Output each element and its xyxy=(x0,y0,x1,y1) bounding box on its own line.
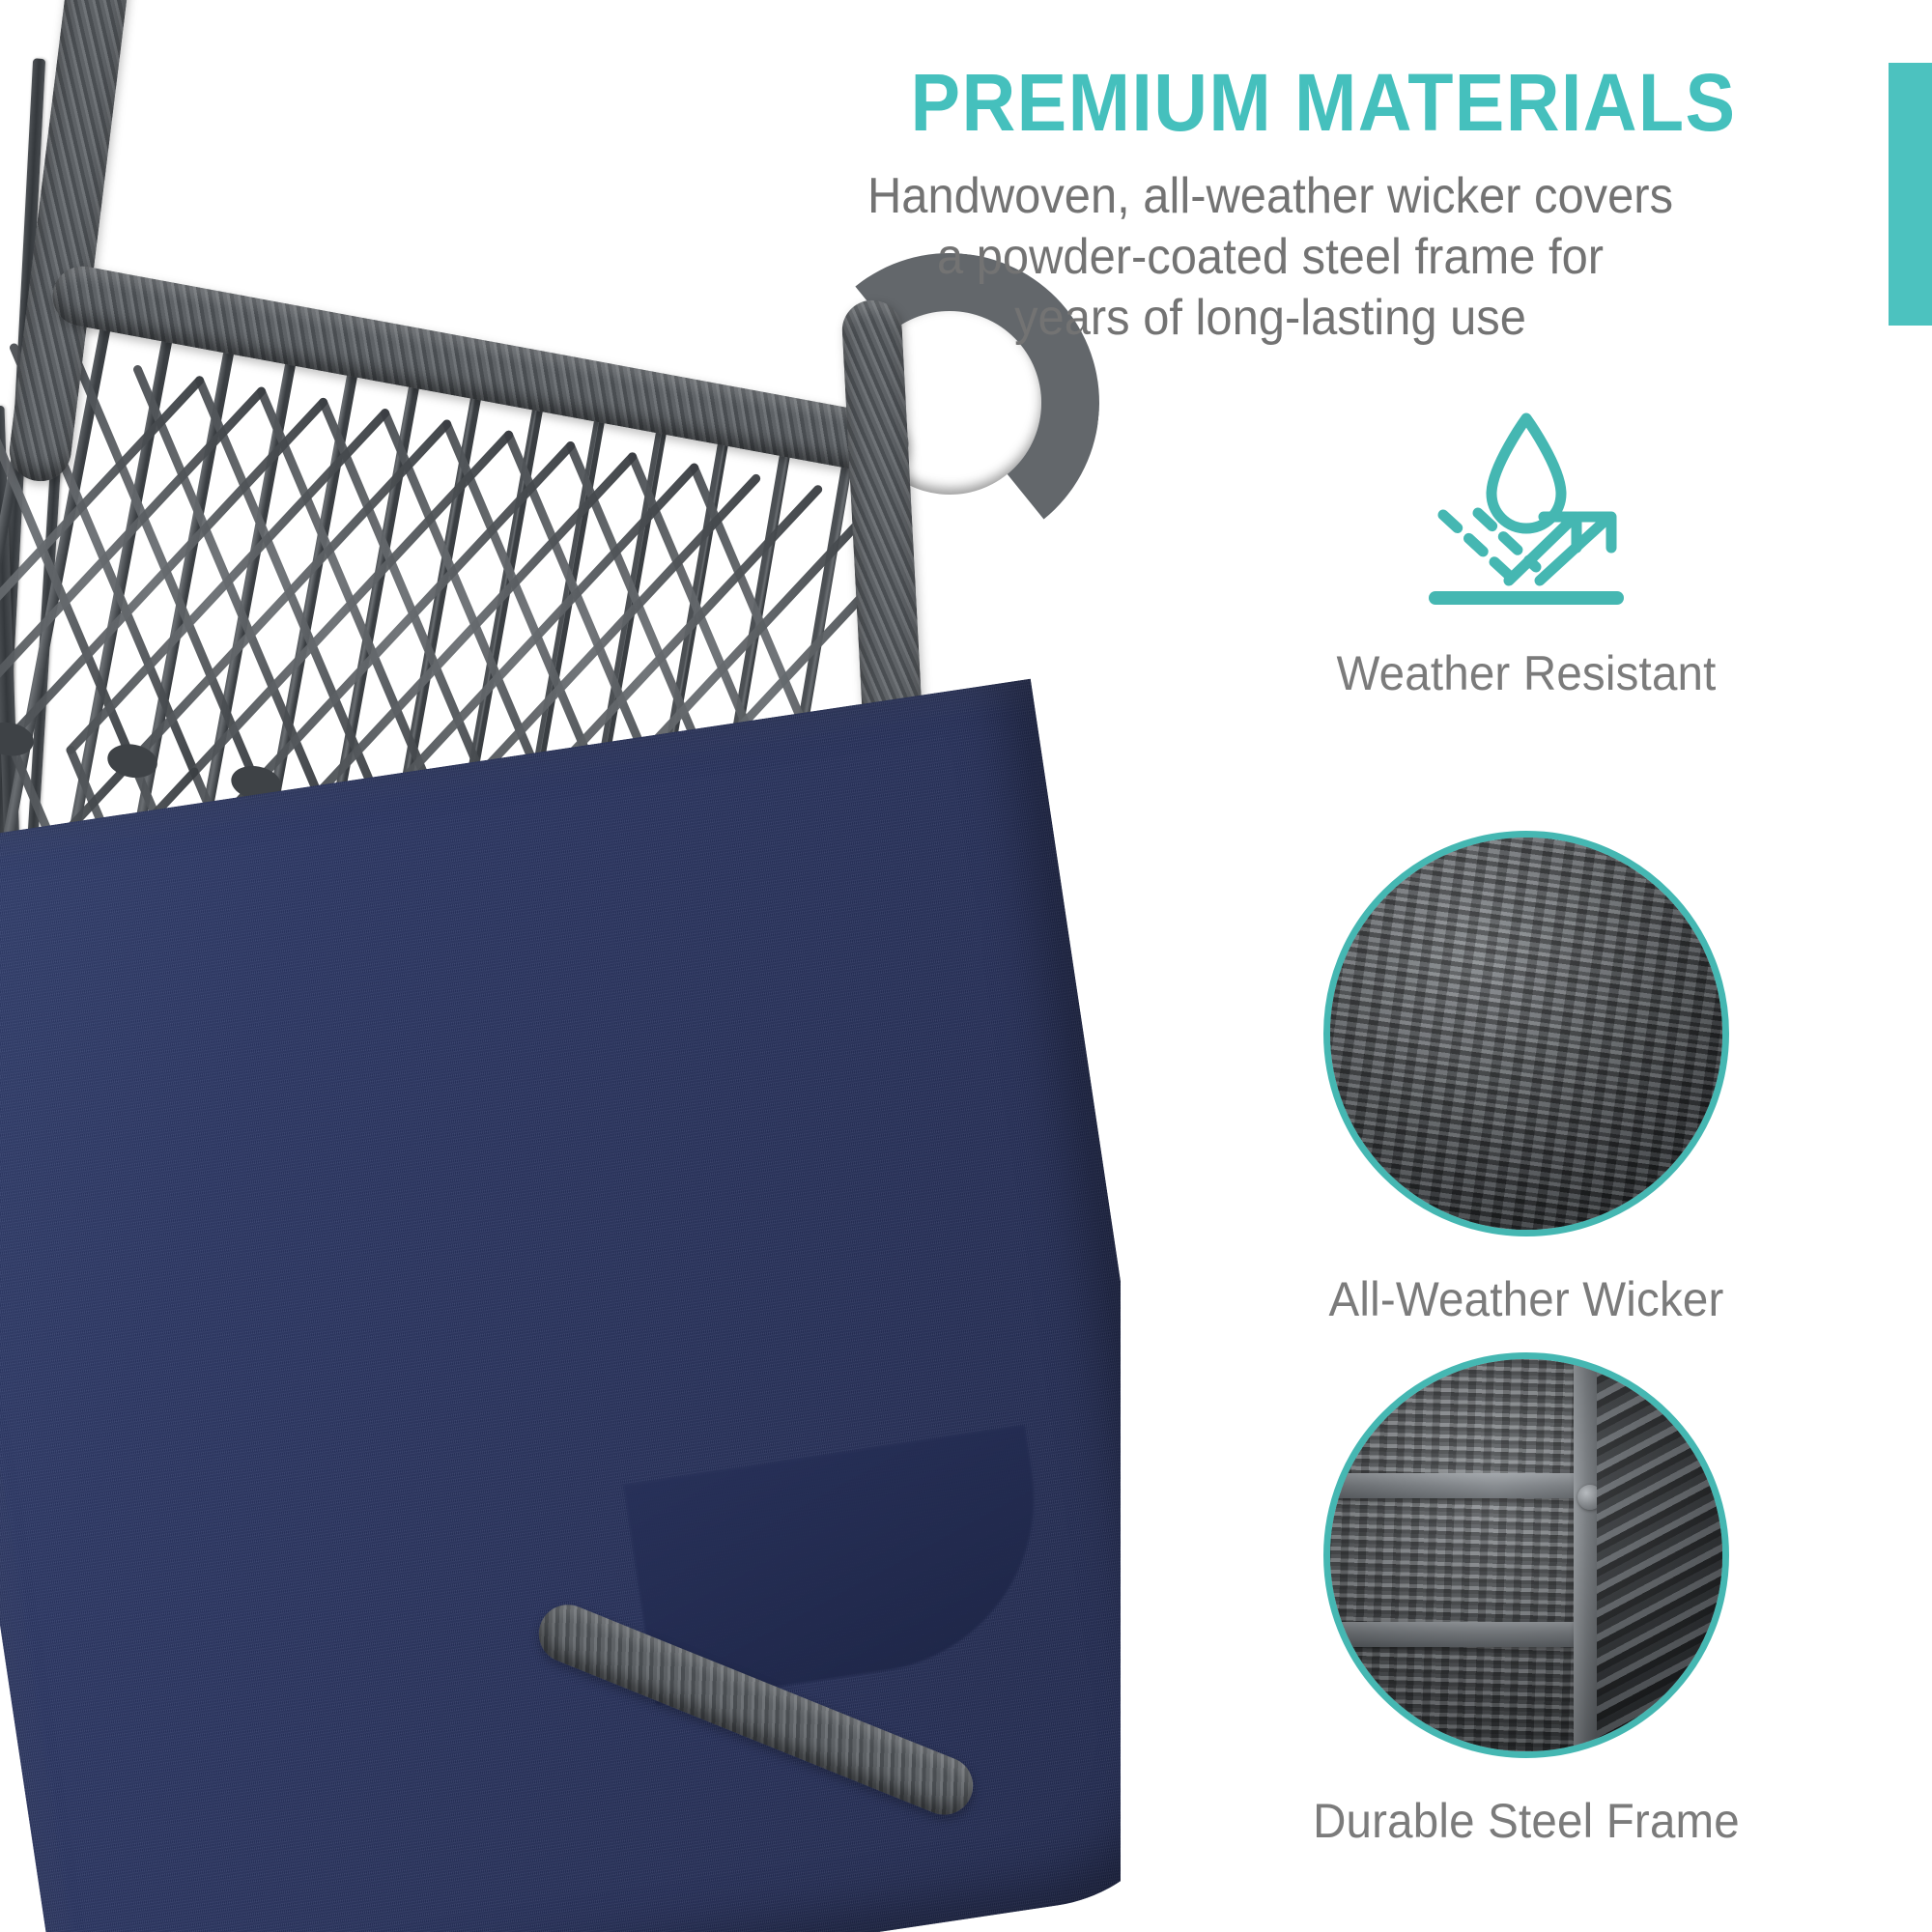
feature-label-durable-steel-frame: Durable Steel Frame xyxy=(1141,1793,1912,1849)
frame-shading xyxy=(1330,1359,1722,1751)
product-feature-graphic: PREMIUM MATERIALS Handwoven, all-weather… xyxy=(0,0,1932,1932)
feature-weather-resistant: Weather Resistant xyxy=(1121,386,1932,701)
water-droplet-repel-icon xyxy=(1401,401,1652,613)
subtitle-line-3: years of long-lasting use xyxy=(712,288,1829,349)
subtitle: Handwoven, all-weather wicker covers a p… xyxy=(712,166,1829,349)
steel-frame-closeup xyxy=(1323,1352,1729,1758)
seat-cushion xyxy=(0,679,1121,1932)
subtitle-line-1: Handwoven, all-weather wicker covers xyxy=(712,166,1829,227)
feature-label-all-weather-wicker: All-Weather Wicker xyxy=(1141,1271,1912,1327)
wicker-weave-closeup xyxy=(1323,831,1729,1236)
feature-label-weather-resistant: Weather Resistant xyxy=(1141,645,1912,701)
subtitle-line-2: a powder-coated steel frame for xyxy=(712,227,1829,288)
weather-resistant-icon-wrap xyxy=(1121,386,1932,628)
wicker-texture xyxy=(1330,838,1722,1230)
feature-all-weather-wicker: All-Weather Wicker xyxy=(1121,831,1932,1327)
accent-bar xyxy=(1889,63,1932,326)
info-panel: PREMIUM MATERIALS Handwoven, all-weather… xyxy=(1121,0,1932,1932)
feature-durable-steel-frame: Durable Steel Frame xyxy=(1121,1352,1932,1849)
steel-frame-texture xyxy=(1330,1359,1722,1751)
page-title: PREMIUM MATERIALS xyxy=(835,60,1812,145)
